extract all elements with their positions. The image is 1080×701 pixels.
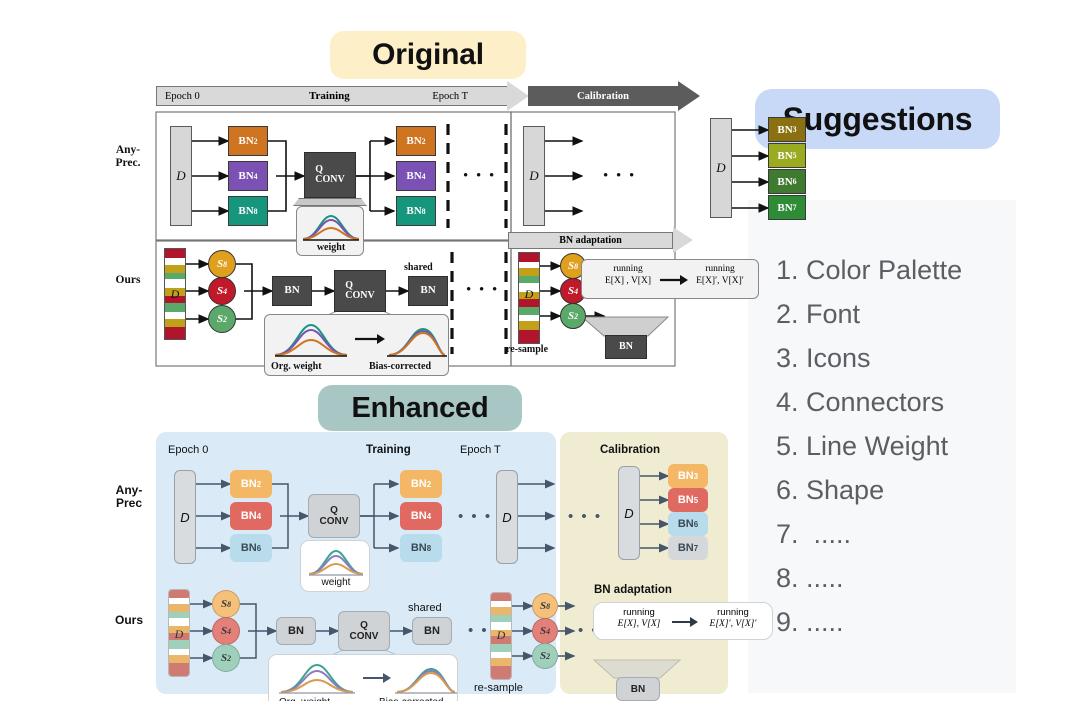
bn-box-calibration: BN7 xyxy=(768,195,806,220)
bn-box-calibration: BN6 xyxy=(768,169,806,194)
weight-inset: weight xyxy=(296,206,364,256)
bn-box: BN2 xyxy=(228,126,268,156)
bn-box: BN2 xyxy=(230,470,272,498)
shared-bn-box: BN xyxy=(408,276,448,306)
bias-corrected-caption: Bias-corrected xyxy=(369,361,431,372)
resample-caption: re-sample xyxy=(506,344,548,355)
precision-circle: S2 xyxy=(560,303,586,329)
list-item: 8. ..... xyxy=(776,556,1016,600)
label-calibration: Calibration xyxy=(600,444,660,456)
slide-canvas: Original Enhanced Suggestions 1. Color P… xyxy=(0,0,1080,701)
dataset-label: D xyxy=(168,624,190,644)
weight-caption: weight xyxy=(301,577,371,588)
bn-box-calibration: BN5 xyxy=(768,143,806,168)
bn-box-calibration: BN7 xyxy=(668,536,708,560)
dataset-label: D xyxy=(180,510,189,525)
bn-box-calibration: BN6 xyxy=(668,512,708,536)
list-item: 5. Line Weight xyxy=(776,424,1016,468)
label-training: Training xyxy=(309,90,350,102)
figure-enhanced: Any-Prec Ours xyxy=(108,432,728,694)
bn-adaptation-arrowhead xyxy=(673,227,693,253)
bias-correction-inset: Org. weight Bias-corrected xyxy=(268,654,458,701)
label-epoch-0: Epoch 0 xyxy=(168,444,208,456)
dataset-label: D xyxy=(502,510,511,525)
dataset-label: D xyxy=(716,160,725,176)
ellipsis: • • • xyxy=(463,168,496,185)
bn-adaptation-bn-box: BN xyxy=(605,335,647,359)
timeline-calibration-bar: Calibration xyxy=(528,86,678,106)
precision-circle: S4 xyxy=(212,617,240,645)
ellipsis: • • • xyxy=(458,508,492,525)
ellipsis: • • • xyxy=(466,282,499,299)
running-stats-after: running E[X]′, V[X]′ xyxy=(686,264,754,288)
bn-box: BN6 xyxy=(230,534,272,562)
precision-circle: S8 xyxy=(208,250,236,278)
label-epoch-t: Epoch T xyxy=(432,91,468,102)
bn-box: BN4 xyxy=(396,161,436,191)
list-item: 4. Connectors xyxy=(776,380,1016,424)
dataset-block: D xyxy=(496,470,518,564)
dataset-block: D xyxy=(710,118,732,218)
resample-caption: re-sample xyxy=(474,682,523,694)
ellipsis: • • • xyxy=(603,168,636,185)
bn-box-ours: BN xyxy=(272,276,312,306)
bn-box: BN4 xyxy=(400,502,442,530)
list-item: 9. ..... xyxy=(776,600,1016,644)
precision-circle: S2 xyxy=(532,643,558,669)
dataset-block: D xyxy=(174,470,196,564)
row-label-any-prec: Any-Prec xyxy=(106,484,152,511)
precision-circle: S8 xyxy=(532,593,558,619)
qconv-base xyxy=(293,198,367,206)
dataset-label: D xyxy=(164,284,186,304)
precision-circle: S4 xyxy=(532,618,558,644)
dataset-label: D xyxy=(518,284,540,304)
bn-box: BN4 xyxy=(230,502,272,530)
bn-box: BN8 xyxy=(228,196,268,226)
timeline-training-arrowhead xyxy=(507,81,529,111)
list-item: 6. Shape xyxy=(776,468,1016,512)
list-item: 2. Font xyxy=(776,292,1016,336)
bias-curves xyxy=(269,657,459,697)
bias-correction-inset: Org. weight Bias-corrected xyxy=(264,314,449,376)
dataset-block: D xyxy=(618,466,640,560)
row-label-ours: Ours xyxy=(106,614,152,627)
running-stats-before: running E[X], V[X] xyxy=(606,607,672,631)
running-stats-before: running E[X] , V[X] xyxy=(596,264,660,288)
row-label-any-prec: Any-Prec. xyxy=(104,144,152,170)
bn-adaptation-bn-box: BN xyxy=(616,677,660,701)
suggestions-list: 1. Color Palette 2. Font 3. Icons 4. Con… xyxy=(748,200,1016,644)
dataset-block: D xyxy=(523,126,545,226)
figure-original: Any-Prec. Ours xyxy=(108,86,728,376)
bias-corrected-caption: Bias-corrected xyxy=(379,697,443,701)
precision-circle: S8 xyxy=(212,590,240,618)
badge-original: Original xyxy=(330,31,526,79)
list-item: 3. Icons xyxy=(776,336,1016,380)
label-epoch-t: Epoch T xyxy=(460,444,501,456)
list-item: 7. ..... xyxy=(776,512,1016,556)
bn-box: BN8 xyxy=(400,534,442,562)
weight-curves xyxy=(297,208,365,242)
qconv-box: Q CONV xyxy=(308,494,360,538)
bn-box-calibration: BN3 xyxy=(768,117,806,142)
weight-curves xyxy=(301,544,371,578)
arrow-icon xyxy=(660,274,688,286)
shared-bn-box: BN xyxy=(412,617,452,645)
org-weight-caption: Org. weight xyxy=(271,361,322,372)
ellipsis: • • • xyxy=(568,508,602,525)
list-item: 1. Color Palette xyxy=(776,248,1016,292)
bn-box: BN2 xyxy=(396,126,436,156)
label-calibration: Calibration xyxy=(577,91,629,102)
running-stats-after: running E[X]′, V[X]′ xyxy=(698,607,768,631)
bn-adaptation-inset: running E[X], V[X] running E[X]′, V[X]′ xyxy=(593,602,773,640)
timeline-calibration-arrowhead xyxy=(678,81,700,111)
bn-box-calibration: BN5 xyxy=(668,488,708,512)
timeline-bn-adaptation-bar: BN adaptation xyxy=(508,232,673,249)
label-bn-adaptation: BN adaptation xyxy=(594,584,672,596)
weight-inset: weight xyxy=(300,540,370,592)
qconv-box-ours: Q CONV xyxy=(338,611,390,651)
bn-box-ours: BN xyxy=(276,617,316,645)
bn-box-calibration: BN3 xyxy=(668,464,708,488)
bn-box: BN4 xyxy=(228,161,268,191)
weight-caption: weight xyxy=(297,242,365,253)
dataset-label: D xyxy=(624,506,633,521)
suggestions-panel: 1. Color Palette 2. Font 3. Icons 4. Con… xyxy=(748,200,1016,693)
dataset-label: D xyxy=(176,168,185,184)
row-label-ours: Ours xyxy=(104,274,152,287)
qconv-box-ours: Q CONV xyxy=(334,270,386,312)
dataset-label: D xyxy=(490,625,512,645)
dataset-label: D xyxy=(529,168,538,184)
arrow-icon xyxy=(672,616,698,628)
bn-adaptation-inset: running E[X] , V[X] running E[X]′, V[X]′ xyxy=(581,259,759,299)
label-epoch-0: Epoch 0 xyxy=(165,91,200,102)
bias-curves xyxy=(265,315,450,359)
label-training: Training xyxy=(366,444,411,456)
precision-circle: S2 xyxy=(212,644,240,672)
org-weight-caption: Org. weight xyxy=(279,697,330,701)
label-bn-adaptation: BN adaptation xyxy=(559,235,622,246)
qconv-box: Q CONV xyxy=(304,152,356,198)
bn-box: BN8 xyxy=(396,196,436,226)
shared-label: shared xyxy=(408,602,442,614)
timeline-training-bar: Epoch 0 Training Epoch T xyxy=(156,86,511,106)
dataset-block: D xyxy=(170,126,192,226)
precision-circle: S4 xyxy=(208,277,236,305)
precision-circle: S2 xyxy=(208,305,236,333)
bn-box: BN2 xyxy=(400,470,442,498)
shared-label: shared xyxy=(404,262,433,273)
badge-enhanced: Enhanced xyxy=(318,385,522,431)
